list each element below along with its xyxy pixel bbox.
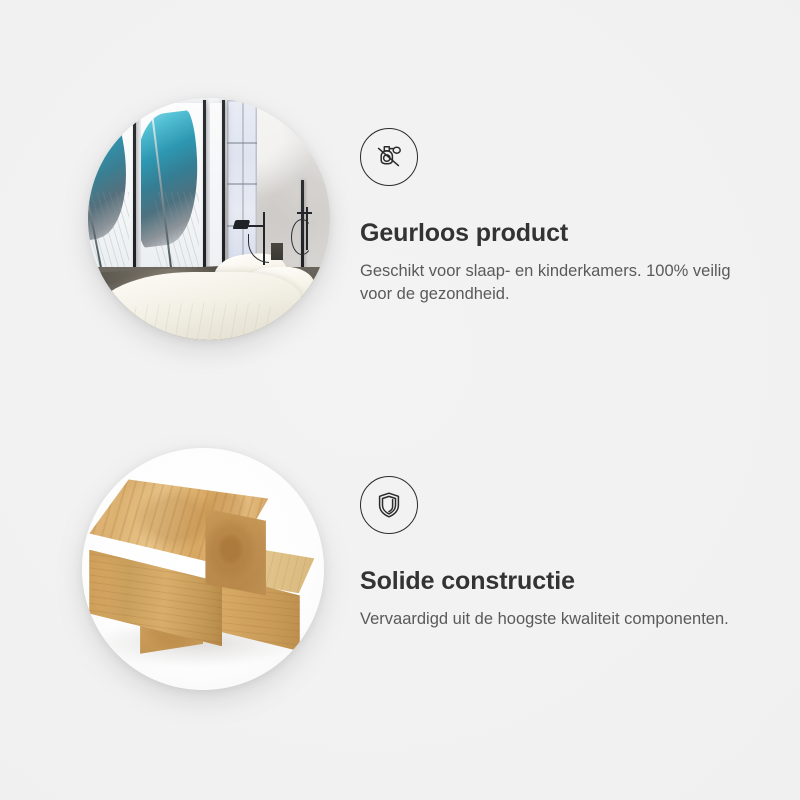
feature-description: Vervaardigd uit de hoogste kwaliteit com…: [360, 608, 752, 632]
feather-barbs: [88, 192, 129, 268]
hoop-decoration: [291, 219, 313, 255]
bedroom-feather-wall-art-photo: [88, 98, 330, 340]
wooden-beams-photo: [82, 448, 324, 690]
panel-rail: [203, 100, 206, 277]
panel-rail: [133, 100, 136, 277]
no-fragrance-icon: [360, 128, 418, 186]
shield-icon: [360, 476, 418, 534]
bedroom-scene: [88, 98, 330, 340]
page-title: Geurloos product: [360, 220, 760, 248]
feature-text-odourless: Geurloos product Geschikt voor slaap- en…: [360, 128, 760, 307]
page-title: Solide constructie: [360, 568, 760, 596]
panel-rail: [222, 100, 225, 277]
art-panel-center: [141, 103, 204, 275]
beam-main-end-grain: [205, 509, 266, 596]
art-panel-left: [88, 103, 134, 275]
feature-description: Geschikt voor slaap- en kinderkamers. 10…: [360, 260, 752, 308]
wooden-beams-scene: [82, 448, 324, 690]
nightstand: [271, 243, 283, 260]
feature-block-odourless: Geurloos product Geschikt voor slaap- en…: [0, 78, 800, 378]
lamp-arm: [297, 212, 312, 214]
feather-barbs: [155, 192, 199, 268]
product-feature-page: Geurloos product Geschikt voor slaap- en…: [0, 0, 800, 800]
feature-block-solid-construction: Solide constructie Vervaardigd uit de ho…: [0, 428, 800, 728]
feature-text-solid-construction: Solide constructie Vervaardigd uit de ho…: [360, 476, 760, 631]
